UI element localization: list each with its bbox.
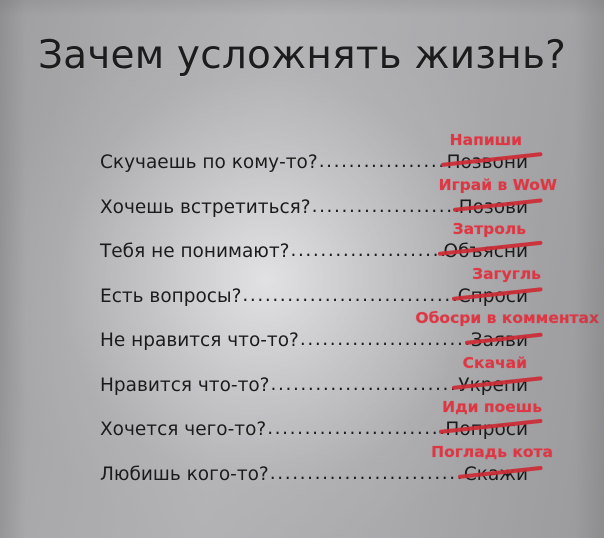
answer-text: Спроси [458, 285, 530, 309]
replacement-label: Играй в WoW [439, 176, 557, 194]
question-row: Любишь кого-то?.........................… [0, 453, 604, 498]
dotted-leader: ........................................… [319, 150, 447, 174]
dotted-leader: ........................................… [290, 239, 443, 263]
question-text: Хочется чего-то? [100, 418, 266, 442]
question-text: Есть вопросы? [100, 285, 241, 309]
dotted-leader: ........................................… [312, 195, 459, 219]
question-line: Тебя не понимают?.......................… [100, 240, 530, 264]
strikethrough-mark [465, 333, 543, 345]
strikethrough-mark [440, 152, 542, 167]
replacement-label: Обосри в комментах [415, 309, 599, 327]
replacement-label: Скачай [463, 354, 527, 372]
strikethrough-mark [452, 376, 543, 390]
dotted-leader: ........................................… [242, 284, 457, 308]
question-line: Любишь кого-то?.........................… [100, 463, 530, 487]
strikethrough-mark [458, 466, 543, 479]
replacement-label: Напиши [450, 131, 522, 149]
question-text: Тебя не понимают? [100, 240, 289, 264]
answer-text: Укрепи [458, 374, 530, 398]
replacement-label: Затроль [453, 220, 526, 238]
strikethrough-mark [452, 287, 543, 301]
page-title: Зачем усложнять жизнь? [0, 33, 604, 79]
replacement-label: Погладь кота [431, 443, 553, 461]
question-line: Не нравится что-то?.....................… [100, 329, 530, 353]
question-text: Любишь кого-то? [100, 463, 269, 487]
question-line: Нравится что-то?........................… [100, 374, 530, 398]
dotted-leader: ........................................… [270, 462, 464, 486]
answer-text: Скажи [464, 463, 530, 487]
answer-text: Позвони [447, 151, 530, 175]
question-line: Хочешь встретиться?.....................… [100, 196, 530, 220]
question-text: Не нравится что-то? [100, 329, 299, 353]
slide-canvas: Зачем усложнять жизнь? Скучаешь по кому-… [0, 0, 604, 538]
strikethrough-mark [439, 419, 542, 434]
answer-text: Заяви [471, 329, 530, 353]
answer-text: Попроси [445, 418, 530, 442]
dotted-leader: ........................................… [271, 373, 459, 397]
question-text: Скучаешь по кому-то? [100, 151, 318, 175]
question-text: Хочешь встретиться? [100, 196, 311, 220]
question-text: Нравится что-то? [100, 374, 270, 398]
dotted-leader: ........................................… [300, 328, 471, 352]
strikethrough-mark [437, 241, 542, 256]
answer-text: Объясни [444, 240, 530, 264]
question-line: Хочется чего-то?........................… [100, 418, 530, 442]
question-line: Скучаешь по кому-то?....................… [100, 151, 530, 175]
dotted-leader: ........................................… [267, 417, 445, 441]
strikethrough-mark [452, 198, 542, 212]
replacement-label: Загугль [472, 265, 541, 283]
question-list: Скучаешь по кому-то?....................… [0, 141, 604, 497]
answer-text: Позови [459, 196, 530, 220]
replacement-label: Иди поешь [442, 398, 542, 416]
question-line: Есть вопросы?...........................… [100, 285, 530, 309]
